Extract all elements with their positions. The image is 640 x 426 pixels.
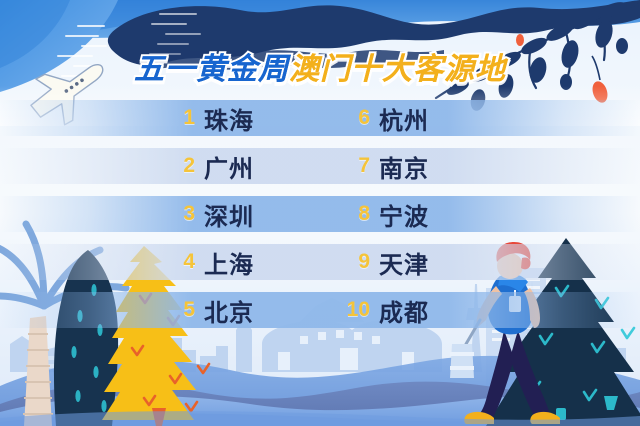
city-name: 宁波: [379, 197, 429, 232]
table-row: 2 广州 7 南京: [0, 148, 640, 196]
city-name: 成都: [379, 293, 429, 328]
rank-number: 5: [165, 298, 195, 322]
city-name: 广州: [204, 149, 254, 184]
rank-entry-2: 2 广州: [165, 148, 340, 184]
city-name: 天津: [379, 245, 429, 280]
city-name: 杭州: [379, 101, 429, 136]
rank-entry-10: 10 成都: [340, 292, 515, 328]
table-row: 1 珠海 6 杭州: [0, 100, 640, 148]
rank-entry-5: 5 北京: [165, 292, 340, 328]
city-name: 南京: [379, 149, 429, 184]
rank-number: 2: [165, 154, 195, 178]
rank-entry-3: 3 深圳: [165, 196, 340, 232]
rank-entry-1: 1 珠海: [165, 100, 340, 136]
ranking-list: 1 珠海 6 杭州 2 广州 7 南京: [0, 100, 640, 340]
rank-number: 4: [165, 250, 195, 274]
rank-number: 10: [340, 298, 370, 322]
table-row: 3 深圳 8 宁波: [0, 196, 640, 244]
city-name: 上海: [204, 245, 254, 280]
rank-number: 3: [165, 202, 195, 226]
rank-number: 9: [340, 250, 370, 274]
city-name: 深圳: [204, 197, 254, 232]
rank-number: 6: [340, 106, 370, 130]
rank-entry-9: 9 天津: [340, 244, 515, 280]
city-name: 珠海: [204, 101, 254, 136]
table-row: 5 北京 10 成都: [0, 292, 640, 340]
rank-entry-4: 4 上海: [165, 244, 340, 280]
table-row: 4 上海 9 天津: [0, 244, 640, 292]
city-name: 北京: [204, 293, 254, 328]
rank-number: 7: [340, 154, 370, 178]
rank-number: 1: [165, 106, 195, 130]
poster-canvas: 五一黄金周澳门十大客源地 五一黄金周澳门十大客源地 1 珠海 6 杭州: [0, 0, 640, 426]
rank-entry-8: 8 宁波: [340, 196, 515, 232]
rank-entry-6: 6 杭州: [340, 100, 515, 136]
rank-number: 8: [340, 202, 370, 226]
rank-entry-7: 7 南京: [340, 148, 515, 184]
